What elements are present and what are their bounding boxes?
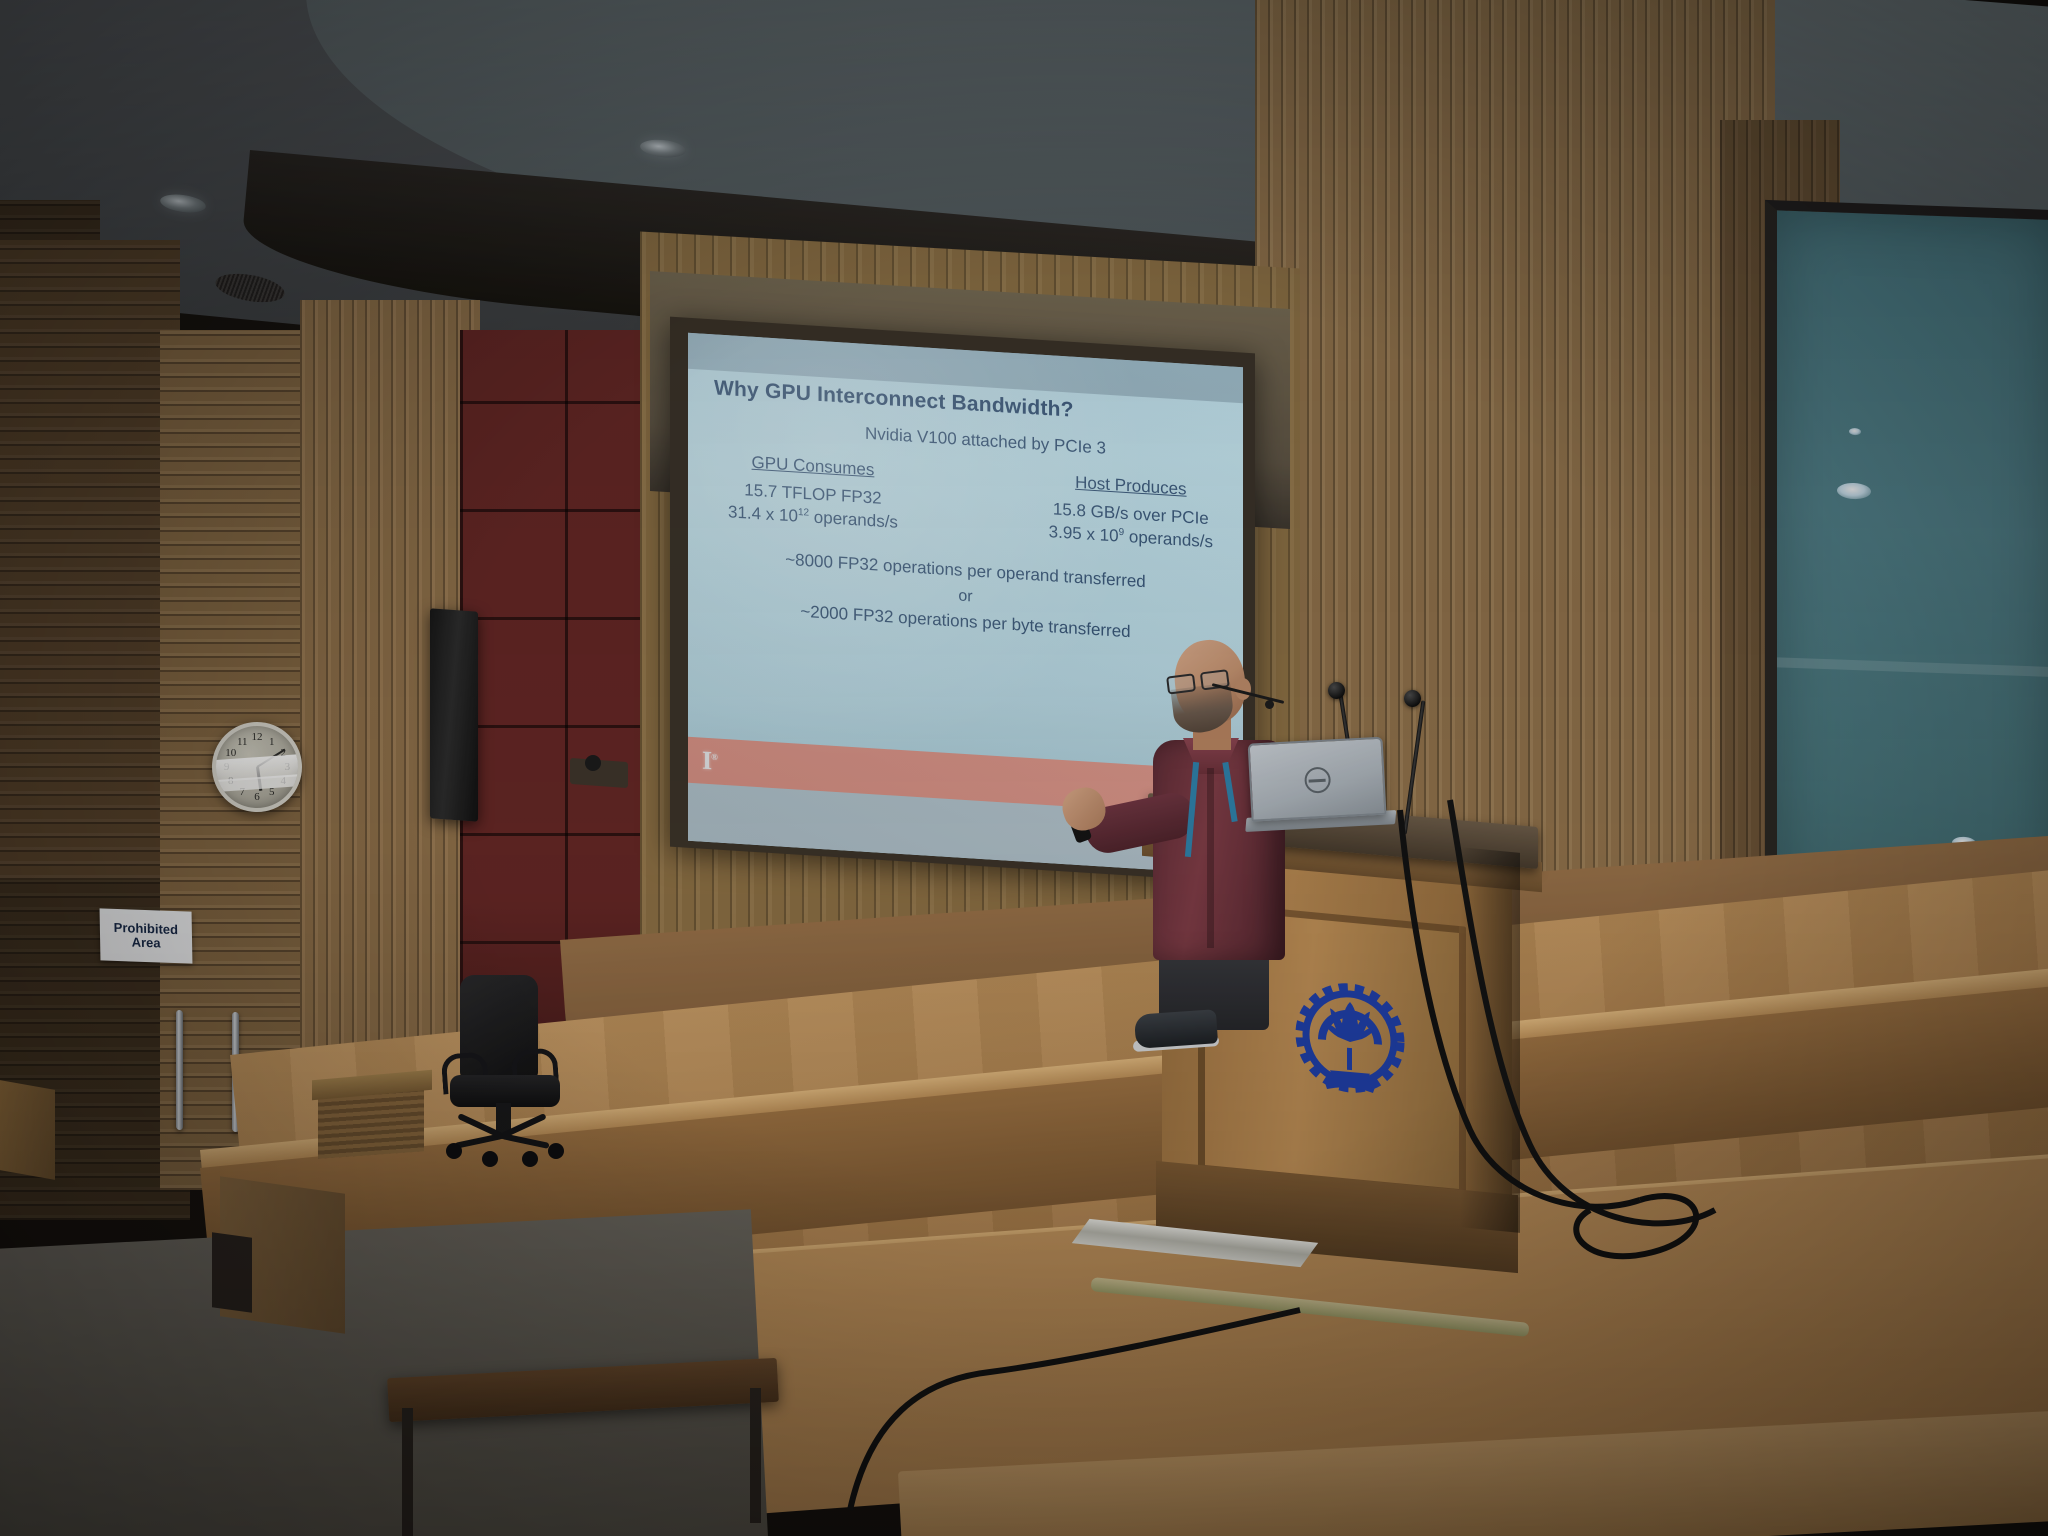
window-light-reflection bbox=[1837, 482, 1871, 499]
slide-columns: GPU Consumes 15.7 TFLOP FP32 31.4 x 1012… bbox=[714, 450, 1217, 553]
lecture-hall-scene: Prohibited Area 12 1 2 3 4 5 6 7 8 9 10 … bbox=[0, 0, 2048, 1536]
window-horizontal-band bbox=[1777, 657, 2048, 677]
slide-column-host: Host Produces 15.8 GB/s over PCIe 3.95 x… bbox=[1049, 471, 1213, 553]
column-heading: Host Produces bbox=[1049, 471, 1213, 501]
office-chair[interactable] bbox=[440, 975, 570, 1175]
stage-side-block-shadow bbox=[212, 1232, 252, 1313]
logo-letter: I bbox=[702, 746, 711, 776]
bench-leg bbox=[750, 1388, 761, 1523]
column-heading: GPU Consumes bbox=[728, 451, 898, 482]
eyeglass-lens bbox=[1166, 673, 1196, 694]
chair-caster bbox=[522, 1151, 538, 1167]
presenter-shoe bbox=[1134, 1009, 1218, 1049]
illinois-block-i-logo: I® bbox=[702, 746, 717, 777]
line-suffix: operands/s bbox=[809, 507, 898, 532]
chair-base-leg bbox=[501, 1133, 549, 1149]
clock-numeral: 6 bbox=[254, 791, 260, 803]
logo-trademark: ® bbox=[711, 752, 717, 762]
clock-numeral: 12 bbox=[252, 731, 263, 743]
line-prefix: 3.95 x 10 bbox=[1049, 522, 1119, 545]
wall-clock: 12 1 2 3 4 5 6 7 8 9 10 11 bbox=[212, 722, 302, 812]
floor-cable bbox=[830, 1280, 1350, 1536]
chair-caster bbox=[446, 1143, 462, 1159]
floor-storage-box bbox=[0, 1080, 55, 1180]
wall-loudspeaker bbox=[430, 608, 478, 821]
side-table bbox=[312, 1075, 432, 1170]
chair-caster bbox=[482, 1151, 498, 1167]
av-cables bbox=[1340, 800, 1760, 1320]
headset-microphone-icon bbox=[1265, 700, 1274, 709]
presenter bbox=[1115, 640, 1335, 1070]
dell-logo bbox=[1303, 767, 1330, 794]
wooden-bench bbox=[388, 1368, 778, 1536]
wall-panel-left bbox=[0, 240, 180, 880]
clock-numeral: 10 bbox=[225, 747, 236, 759]
line-prefix: 31.4 x 10 bbox=[728, 502, 798, 525]
clock-numeral: 11 bbox=[237, 736, 248, 748]
bench-leg bbox=[402, 1408, 413, 1536]
sign-line-2: Area bbox=[132, 935, 161, 950]
window-light-reflection bbox=[1849, 428, 1861, 435]
chair-caster bbox=[548, 1143, 564, 1159]
line-exponent: 12 bbox=[798, 507, 809, 519]
line-suffix: operands/s bbox=[1124, 527, 1213, 552]
door-handle[interactable] bbox=[176, 1010, 183, 1130]
slide-conclusion: ~8000 FP32 operations per operand transf… bbox=[714, 543, 1217, 652]
clock-numeral: 1 bbox=[269, 736, 275, 748]
presenter-shirt-placket bbox=[1207, 768, 1214, 948]
slide-column-gpu: GPU Consumes 15.7 TFLOP FP32 31.4 x 1012… bbox=[728, 451, 898, 534]
projector-bracket-joint bbox=[585, 755, 601, 771]
microphone-head-icon bbox=[1404, 690, 1421, 707]
bench-top bbox=[387, 1358, 779, 1422]
prohibited-area-sign: Prohibited Area bbox=[100, 908, 193, 963]
